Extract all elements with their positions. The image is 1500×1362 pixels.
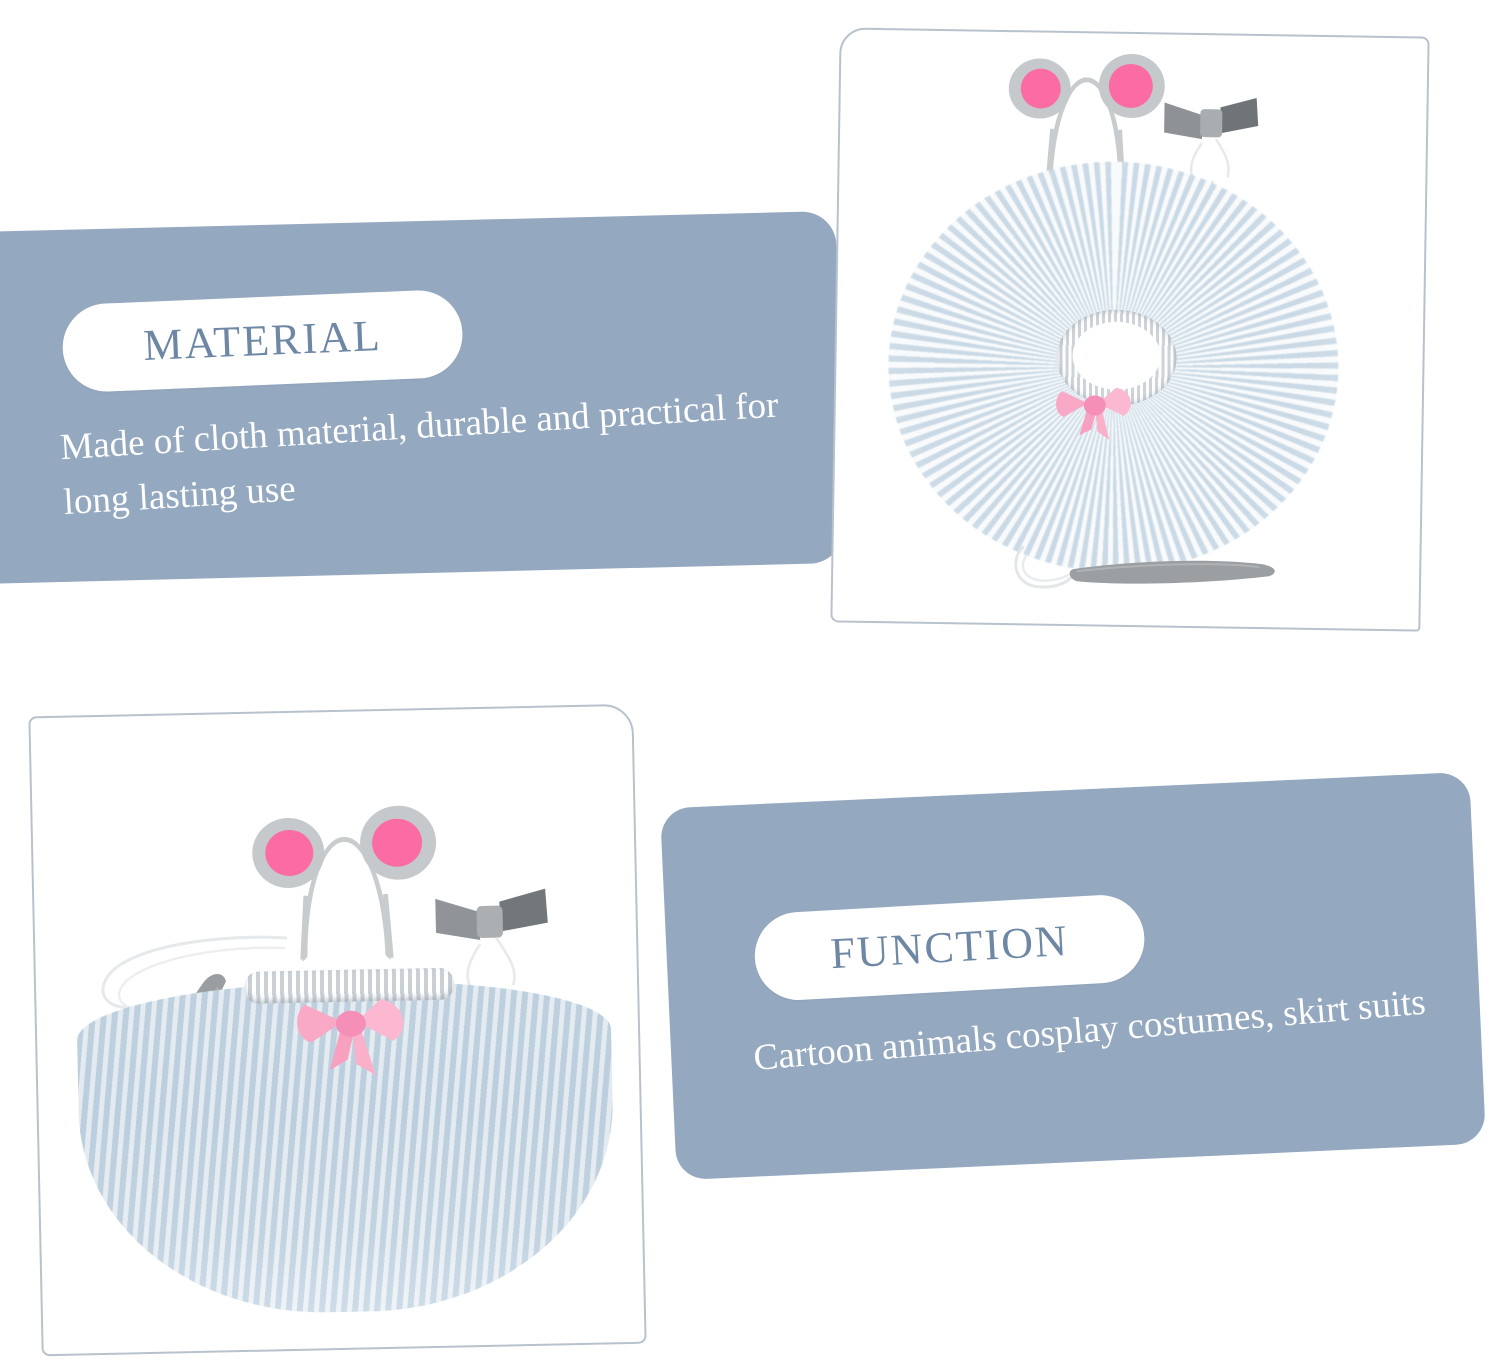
function-title-pill: FUNCTION [752, 893, 1146, 1003]
material-title-label: MATERIAL [143, 314, 383, 368]
flat-lay-photo [832, 29, 1427, 629]
mouse-tail-flat [1013, 532, 1294, 608]
material-title-pill: MATERIAL [61, 289, 464, 394]
mouse-ear-right [1098, 53, 1165, 118]
function-title-label: FUNCTION [829, 919, 1070, 976]
product-photo-card-arranged [28, 704, 646, 1357]
pink-satin-bow-arranged [294, 980, 426, 1099]
infographic-canvas: MATERIAL Made of cloth material, durable… [0, 0, 1500, 1362]
function-info-panel: FUNCTION Cartoon animals cosplay costume… [660, 772, 1486, 1180]
tutu-skirt-arranged [58, 954, 635, 1326]
pink-satin-bow-flat [1053, 373, 1146, 456]
tutu-skirt-flat [885, 158, 1341, 575]
arranged-set-photo [30, 706, 644, 1354]
material-description-text: Made of cloth material, durable and prac… [59, 376, 824, 530]
mouse-ear-right-arranged [359, 805, 437, 881]
material-info-panel: MATERIAL Made of cloth material, durable… [0, 211, 844, 585]
product-photo-card-flat-lay [830, 27, 1429, 631]
